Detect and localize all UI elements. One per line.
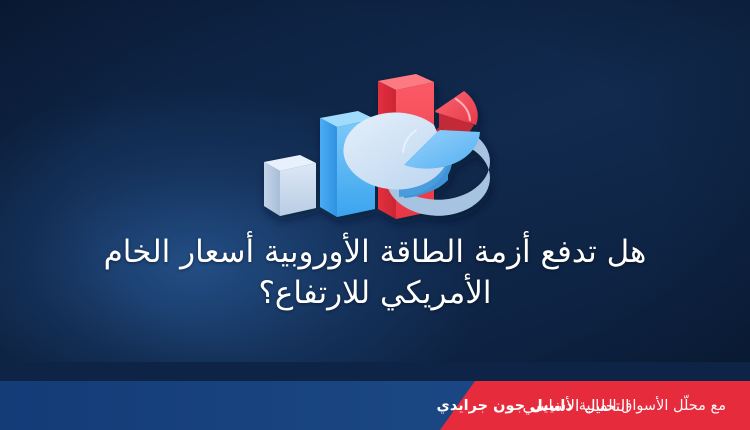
page-title: هل تدفع أزمة الطاقة الأوروبية أسعار الخا… bbox=[0, 232, 750, 314]
analyst-credit-prefix: مع محلّل الأسواق المالية bbox=[579, 398, 726, 414]
page-title-line-2: الأمريكي للارتفاع؟ bbox=[258, 275, 491, 311]
page-title-line-1: هل تدفع أزمة الطاقة الأوروبية أسعار الخا… bbox=[104, 234, 647, 270]
footer-bar: التحليل الأساسي مع محلّل الأسواق المالية… bbox=[0, 381, 750, 430]
chart-illustration bbox=[248, 52, 514, 228]
bar-small-pale bbox=[264, 155, 316, 216]
analyst-credit: مع محلّل الأسواق المالية دانييل جون جراي… bbox=[437, 381, 726, 430]
analyst-name: دانييل جون جرايدي bbox=[437, 398, 573, 414]
footer-divider-strip bbox=[0, 362, 750, 381]
article-cover-card: هل تدفع أزمة الطاقة الأوروبية أسعار الخا… bbox=[0, 0, 750, 430]
